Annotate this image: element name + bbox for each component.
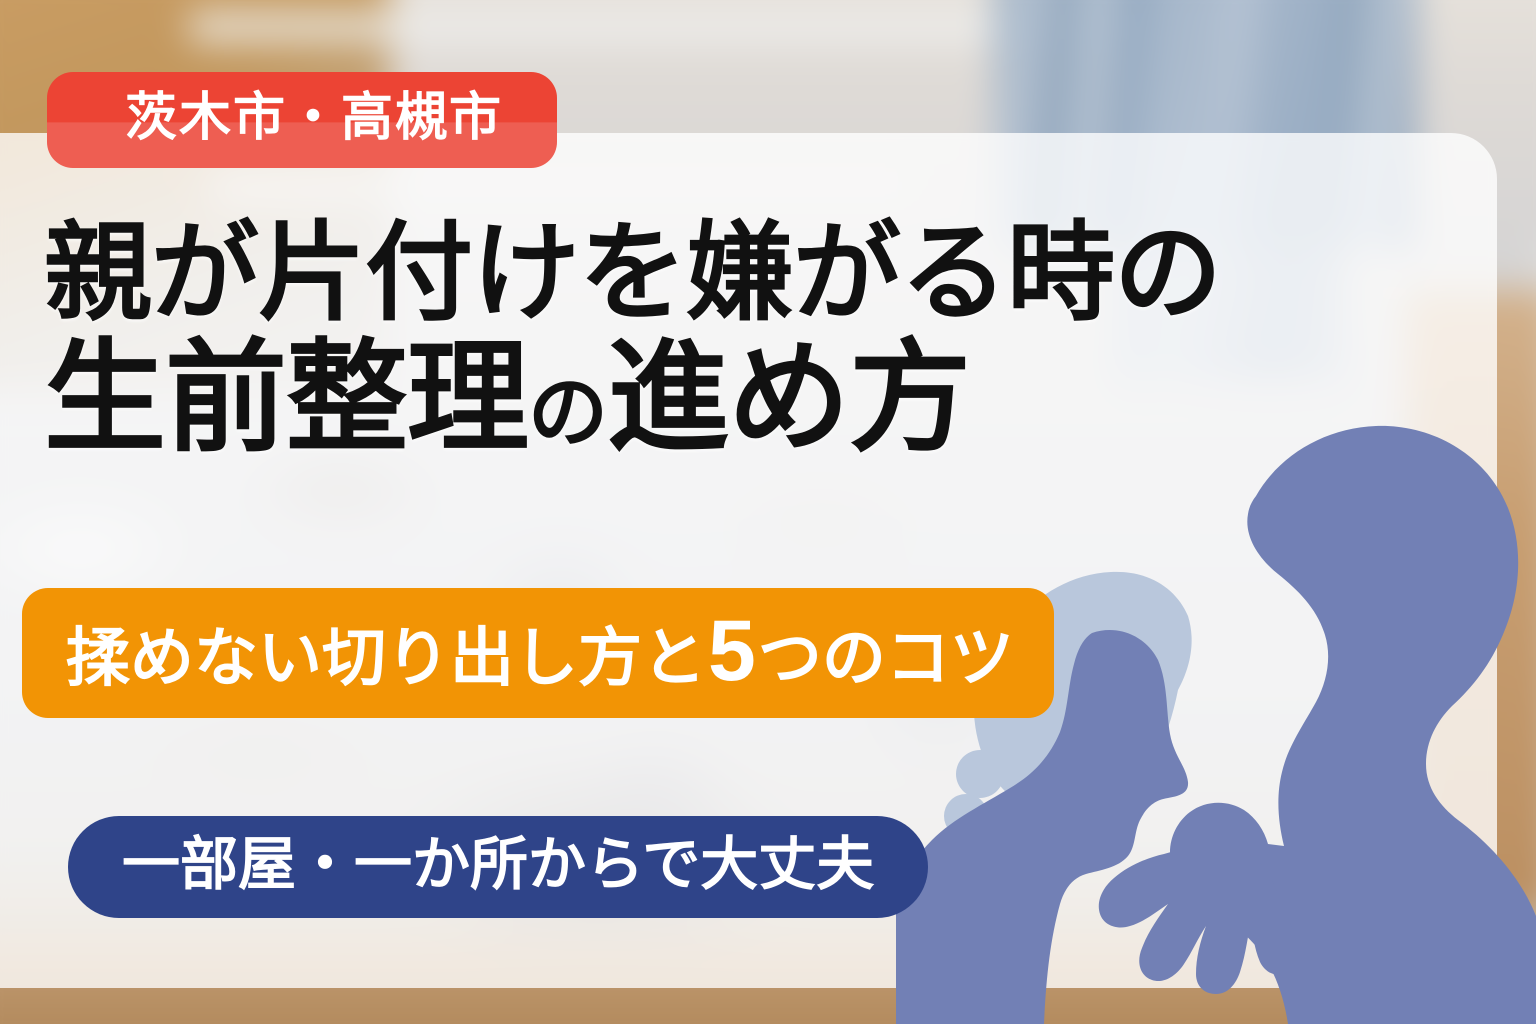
location-badge: 茨木市・高槻市 xyxy=(47,72,557,168)
banner-content: 茨木市・高槻市 親が片付けを嫌がる時の 生前整理の進め方 揉めない切り出し方と5… xyxy=(0,0,1536,1024)
tips-badge-number: 5 xyxy=(706,603,758,699)
headline-keyword: 生前整理 xyxy=(44,330,528,466)
headline-line-2: 生前整理の進め方 xyxy=(44,336,1221,460)
headline-line-1: 親が片付けを嫌がる時の xyxy=(44,218,1221,328)
banner-canvas: 茨木市・高槻市 親が片付けを嫌がる時の 生前整理の進め方 揉めない切り出し方と5… xyxy=(0,0,1536,1024)
headline-tail: 進め方 xyxy=(607,330,970,466)
headline-particle: の xyxy=(528,368,607,457)
tips-badge-suffix: つのコツ xyxy=(758,622,1014,694)
tips-badge: 揉めない切り出し方と5つのコツ xyxy=(22,588,1054,718)
tips-badge-prefix: 揉めない切り出し方と xyxy=(66,622,706,694)
reassurance-badge: 一部屋・一か所からで大丈夫 xyxy=(68,816,928,918)
page-title: 親が片付けを嫌がる時の 生前整理の進め方 xyxy=(44,218,1221,461)
